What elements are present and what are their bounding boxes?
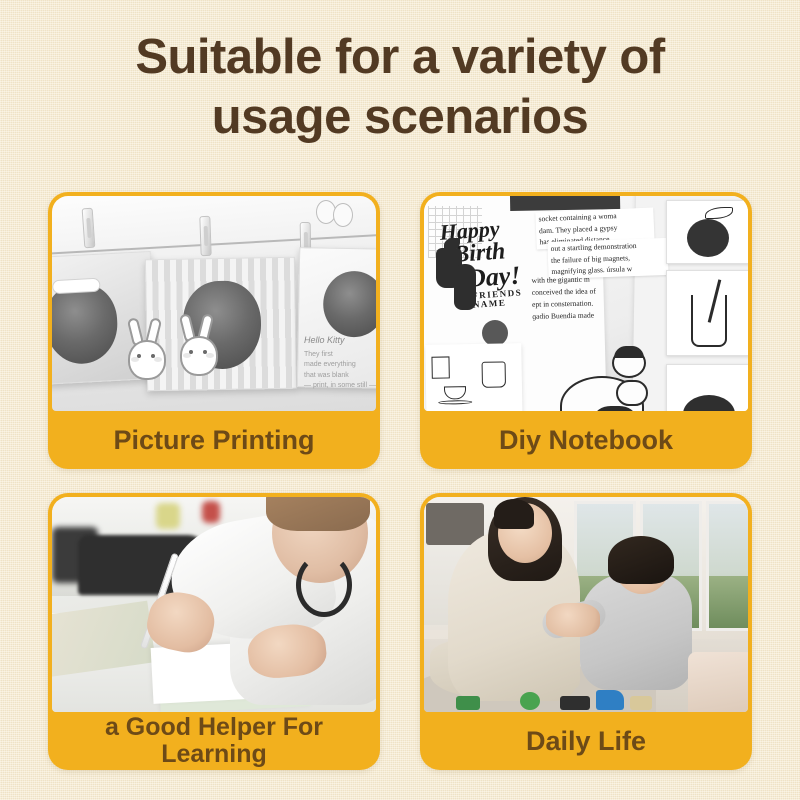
scenario-card-picture-printing[interactable]: Hello Kitty They first made everything t… — [48, 192, 380, 469]
daily-life-photo — [424, 497, 748, 712]
clothespin-icon — [199, 216, 211, 256]
card-label-diy-notebook: Diy Notebook — [420, 411, 752, 469]
storage-bin — [688, 652, 748, 712]
card-label-picture-printing: Picture Printing — [48, 411, 380, 469]
scenario-card-diy-notebook[interactable]: Happy Birth Day! FRIENDS NAME socket con… — [420, 192, 752, 469]
storage-basket — [426, 503, 484, 545]
learning-helper-photo — [52, 497, 376, 712]
child-hair — [266, 497, 370, 531]
drink-glass-illustration — [666, 270, 748, 356]
apple-illustration — [666, 200, 748, 264]
scenario-card-grid: Hello Kitty They first made everything t… — [48, 192, 752, 770]
scenario-card-daily-life[interactable]: Daily Life — [420, 493, 752, 770]
vase-sticker-icon — [454, 264, 476, 310]
circle-stamp-icon — [482, 320, 508, 346]
toy — [630, 696, 652, 710]
neck-cord — [296, 553, 352, 617]
diy-notebook-photo: Happy Birth Day! FRIENDS NAME socket con… — [424, 196, 748, 411]
scenario-card-good-helper-for-learning[interactable]: a Good Helper For Learning — [48, 493, 380, 770]
toy — [520, 692, 540, 710]
person-illustration — [560, 346, 652, 411]
bunny-sticker-icon — [172, 314, 226, 376]
photo-caption-lines: They first made everything that was blan… — [304, 350, 376, 392]
mother-hair-front — [494, 499, 534, 529]
bunny-sticker-icon — [120, 318, 174, 380]
background-object — [156, 503, 180, 529]
photo-caption-title: Hello Kitty — [304, 334, 376, 348]
toy — [596, 690, 624, 710]
picture-printing-photo: Hello Kitty They first made everything t… — [52, 196, 376, 411]
child-hair — [608, 536, 674, 584]
promo-page: Suitable for a variety of usage scenario… — [0, 0, 800, 800]
balloon-doodle-icon — [316, 200, 362, 240]
toy — [456, 696, 480, 710]
background-object — [202, 501, 220, 523]
window — [706, 501, 748, 631]
photo-caption: Hello Kitty They first made everything t… — [304, 334, 376, 392]
notebook-paragraph: with the gigantic m conceived the idea o… — [532, 273, 613, 323]
blob-illustration — [666, 364, 748, 411]
toy — [560, 696, 590, 710]
clothespin-icon — [82, 208, 96, 249]
page-title: Suitable for a variety of usage scenario… — [0, 28, 800, 148]
inset-note-card — [425, 343, 523, 411]
shared-hands — [546, 603, 600, 637]
card-label-daily-life: Daily Life — [420, 712, 752, 770]
card-label-good-helper-for-learning: a Good Helper For Learning — [48, 712, 380, 770]
